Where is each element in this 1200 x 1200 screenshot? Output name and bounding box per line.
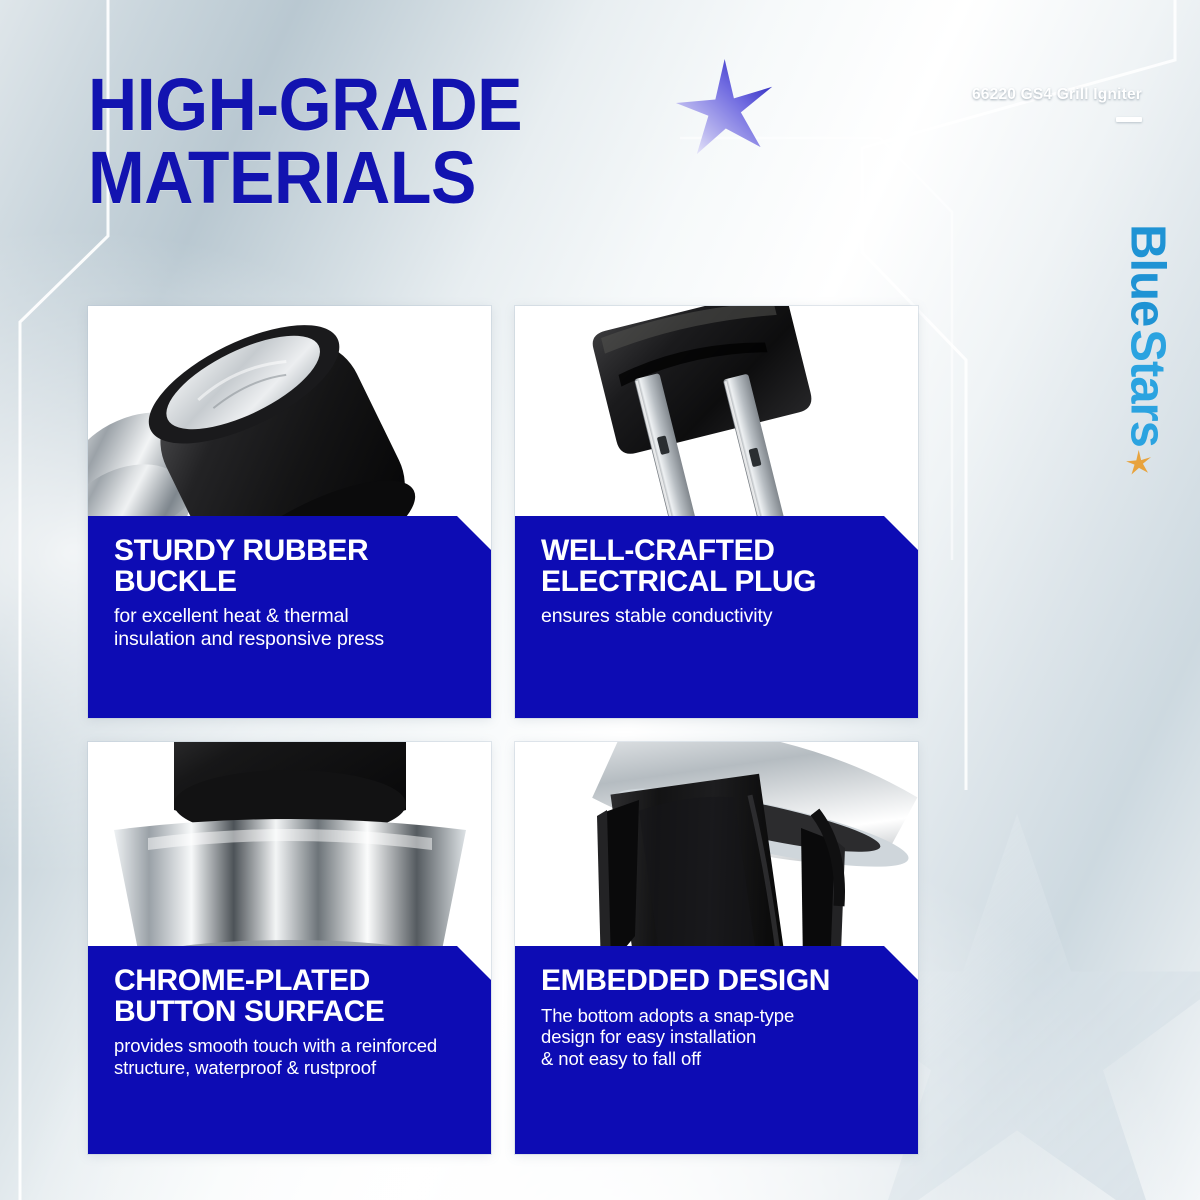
feature-subtitle-2: ensures stable conductivity [541,605,896,628]
title-star-icon [662,52,778,168]
page-title-line2: MATERIALS [88,145,522,212]
infographic-canvas: HIGH-GRADE MATERIALS 66220 GS4 Grill Ign… [0,0,1200,1200]
feature-panel-2[interactable]: WELL-CRAFTED ELECTRICAL PLUG ensures sta… [515,306,918,718]
feature-title-3: CHROME-PLATED BUTTON SURFACE [114,966,469,1027]
product-name-tag: 66220 GS4 Grill Igniter [972,86,1142,122]
feature-panel-1[interactable]: STURDY RUBBER BUCKLE for excellent heat … [88,306,491,718]
feature-title-4: EMBEDDED DESIGN [541,966,896,997]
feature-panel-4[interactable]: EMBEDDED DESIGN The bottom adopts a snap… [515,742,918,1154]
product-name-text: 66220 GS4 Grill Igniter [972,86,1142,104]
feature-title-1: STURDY RUBBER BUCKLE [114,536,469,597]
page-title-line1: HIGH-GRADE [88,72,522,139]
page-title: HIGH-GRADE MATERIALS [88,72,560,211]
feature-caption-1: STURDY RUBBER BUCKLE for excellent heat … [88,516,491,718]
logo-star-icon [1123,448,1153,478]
feature-caption-3: CHROME-PLATED BUTTON SURFACE provides sm… [88,946,491,1154]
feature-caption-2: WELL-CRAFTED ELECTRICAL PLUG ensures sta… [515,516,918,718]
tag-divider-dash [1116,117,1142,122]
feature-title-2: WELL-CRAFTED ELECTRICAL PLUG [541,536,896,597]
feature-panel-3[interactable]: CHROME-PLATED BUTTON SURFACE provides sm… [88,742,491,1154]
feature-caption-4: EMBEDDED DESIGN The bottom adopts a snap… [515,946,918,1154]
logo-text-blue: Blue [1123,224,1172,326]
logo-text-stars: Stars [1123,329,1172,447]
feature-grid: STURDY RUBBER BUCKLE for excellent heat … [88,306,918,1158]
bluestars-logo: BlueStars [1110,186,1184,516]
feature-subtitle-4: The bottom adopts a snap-type design for… [541,1005,896,1069]
feature-subtitle-1: for excellent heat & thermal insulation … [114,605,469,651]
feature-subtitle-3: provides smooth touch with a reinforced … [114,1035,469,1078]
